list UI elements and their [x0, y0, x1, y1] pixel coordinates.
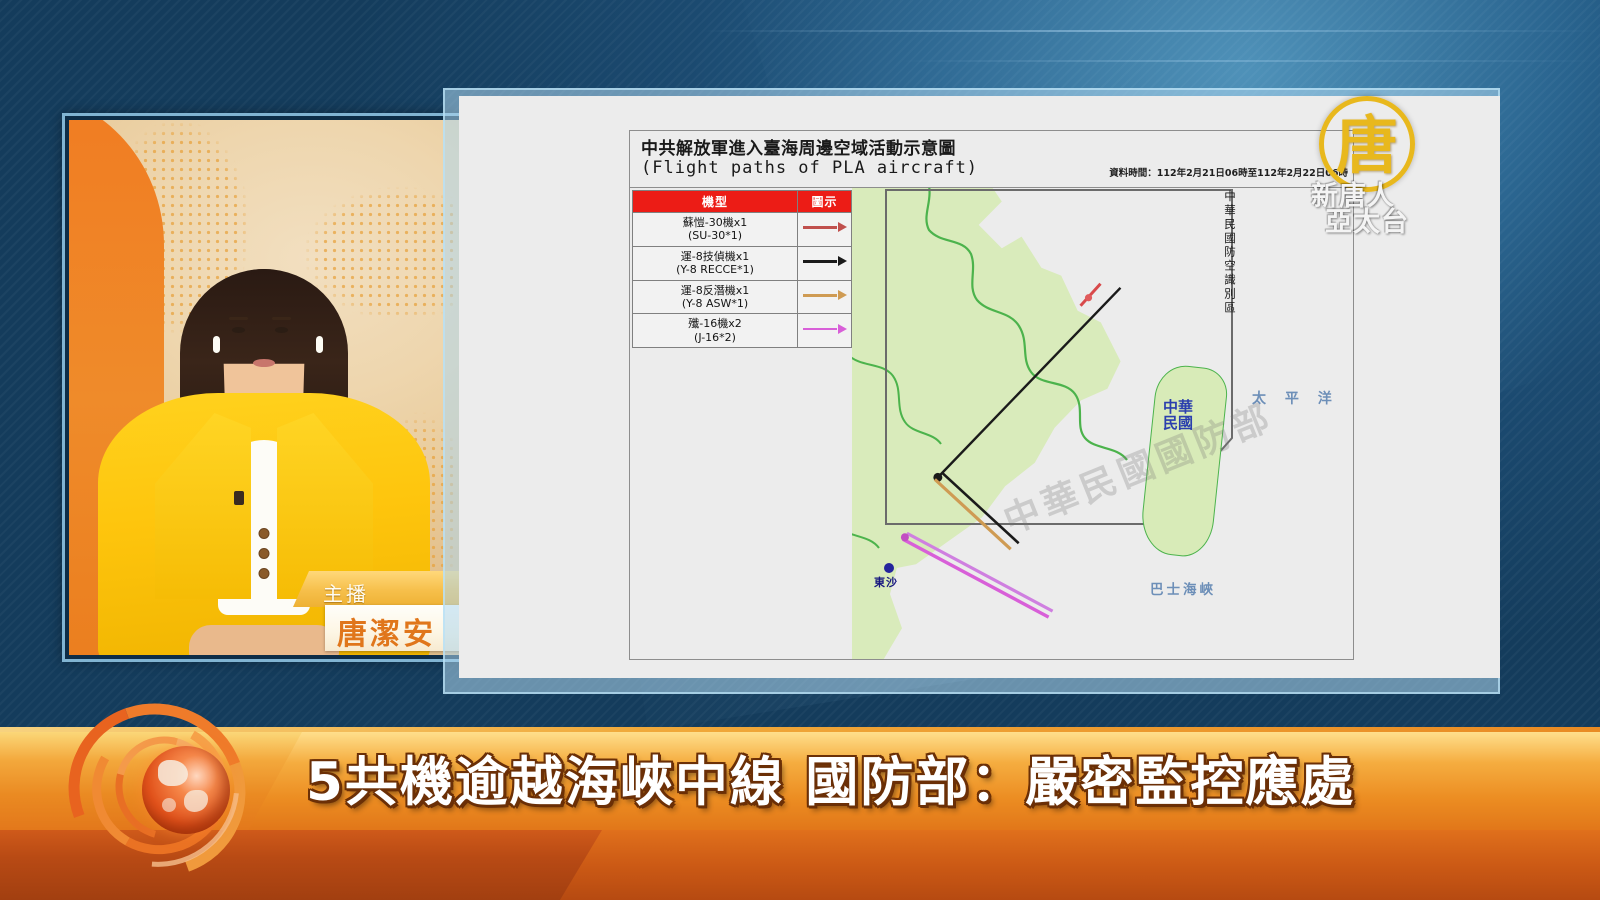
- legend-symbol-cell: [798, 314, 852, 348]
- legend-aircraft-name: 殲-16機x2 (J-16*2): [633, 314, 798, 348]
- legend-aircraft-name: 運-8反潛機x1 (Y-8 ASW*1): [633, 280, 798, 314]
- anchor-eyebrow-right: [272, 317, 291, 320]
- pacific-ocean-label: 太 平 洋: [1252, 388, 1339, 408]
- background-accent-line: [700, 30, 1600, 32]
- anchor-mouth: [253, 359, 275, 367]
- legend-name-en: (J-16*2): [694, 331, 736, 344]
- dongsha-marker-dot: [884, 563, 894, 573]
- legend-symbol-cell: [798, 246, 852, 280]
- arrow-right-icon: [803, 289, 847, 301]
- anchor-eye-right: [275, 327, 288, 333]
- flight-path-su30-marker: [1085, 294, 1092, 301]
- flight-path-j16-b: [907, 533, 1053, 611]
- globe-continent: [162, 798, 176, 812]
- legend-name-en: (Y-8 ASW*1): [682, 297, 748, 310]
- news-headline: 5共機逾越海峽中線 國防部：嚴密監控應處: [306, 740, 1355, 816]
- legend-row: 運-8反潛機x1 (Y-8 ASW*1): [633, 280, 852, 314]
- legend-name-en: (Y-8 RECCE*1): [676, 263, 754, 276]
- nameplate-role-bar: [293, 571, 459, 607]
- pla-flight-path-document: 中共解放軍進入臺海周邊空域活動示意圖 (Flight paths of PLA …: [629, 130, 1354, 660]
- anchor-eye-left: [232, 327, 245, 333]
- anchor-nameplate: 主播 唐潔安: [269, 571, 459, 653]
- anchor-blazer-button: [259, 528, 270, 539]
- legend-row: 運-8技偵機x1 (Y-8 RECCE*1): [633, 246, 852, 280]
- arrow-right-icon: [803, 323, 847, 335]
- ticker-band-highlight: [560, 830, 1600, 900]
- legend-header-symbol: 圖示: [798, 191, 852, 213]
- flight-path-j16-marker: [901, 533, 909, 541]
- anchor-blazer-button: [259, 548, 270, 559]
- globe-continent: [158, 760, 188, 786]
- legend-header-row: 機型 圖示: [633, 191, 852, 213]
- lower-third-banner: 5共機逾越海峽中線 國防部：嚴密監控應處: [0, 700, 1600, 900]
- document-title-zh: 中共解放軍進入臺海周邊空域活動示意圖: [641, 134, 956, 159]
- arrow-right-icon: [803, 221, 847, 233]
- legend-symbol-cell: [798, 213, 852, 247]
- globe-continent: [184, 790, 208, 812]
- anchor-video-panel: 主播 唐潔安: [62, 113, 466, 662]
- legend-name-en: (SU-30*1): [688, 229, 742, 242]
- anchor-video-feed: 主播 唐潔安: [69, 120, 459, 655]
- flight-path-overlay: [852, 188, 1353, 659]
- legend-name-zh: 運-8技偵機x1: [681, 250, 749, 263]
- arrow-right-icon: [803, 255, 847, 267]
- station-logo: 唐 新唐人 亞太台: [1305, 96, 1465, 226]
- aircraft-legend-table: 機型 圖示 蘇愷-30機x1 (SU-30*1): [632, 190, 852, 348]
- taiwan-strait-map: 中華民國防空識別區 中華民國: [852, 188, 1353, 659]
- document-body: 機型 圖示 蘇愷-30機x1 (SU-30*1): [629, 188, 1354, 660]
- background-accent-line: [900, 60, 1600, 62]
- anchor-blazer-button: [259, 568, 270, 579]
- flight-path-y8-recce: [938, 288, 1121, 478]
- flight-path-j16-a: [903, 539, 1049, 617]
- globe-emblem: [62, 700, 312, 878]
- dongsha-label: 東沙: [874, 574, 898, 590]
- anchor-name-label: 唐潔安: [337, 609, 436, 653]
- legend-aircraft-name: 蘇愷-30機x1 (SU-30*1): [633, 213, 798, 247]
- anchor-earring-right: [316, 336, 323, 353]
- legend-row: 蘇愷-30機x1 (SU-30*1): [633, 213, 852, 247]
- legend-aircraft-name: 運-8技偵機x1 (Y-8 RECCE*1): [633, 246, 798, 280]
- anchor-role-label: 主播: [323, 578, 369, 607]
- globe-sphere-icon: [142, 746, 230, 834]
- anchor-lapel-microphone: [234, 491, 244, 505]
- anchor-earring-left: [213, 336, 220, 353]
- legend-name-zh: 運-8反潛機x1: [681, 284, 749, 297]
- station-name-line2: 亞太台: [1325, 200, 1409, 239]
- legend-symbol-cell: [798, 280, 852, 314]
- legend-header-type: 機型: [633, 191, 798, 213]
- document-header: 中共解放軍進入臺海周邊空域活動示意圖 (Flight paths of PLA …: [629, 130, 1354, 188]
- bashi-channel-label: 巴士海峽: [1150, 578, 1216, 598]
- document-title-en: (Flight paths of PLA aircraft): [641, 158, 978, 178]
- flight-path-y8-asw: [935, 479, 1011, 549]
- legend-name-zh: 蘇愷-30機x1: [683, 216, 747, 229]
- legend-name-zh: 殲-16機x2: [688, 317, 741, 330]
- legend-row: 殲-16機x2 (J-16*2): [633, 314, 852, 348]
- anchor-eyebrow-left: [229, 317, 248, 320]
- flight-path-su30: [1081, 284, 1101, 306]
